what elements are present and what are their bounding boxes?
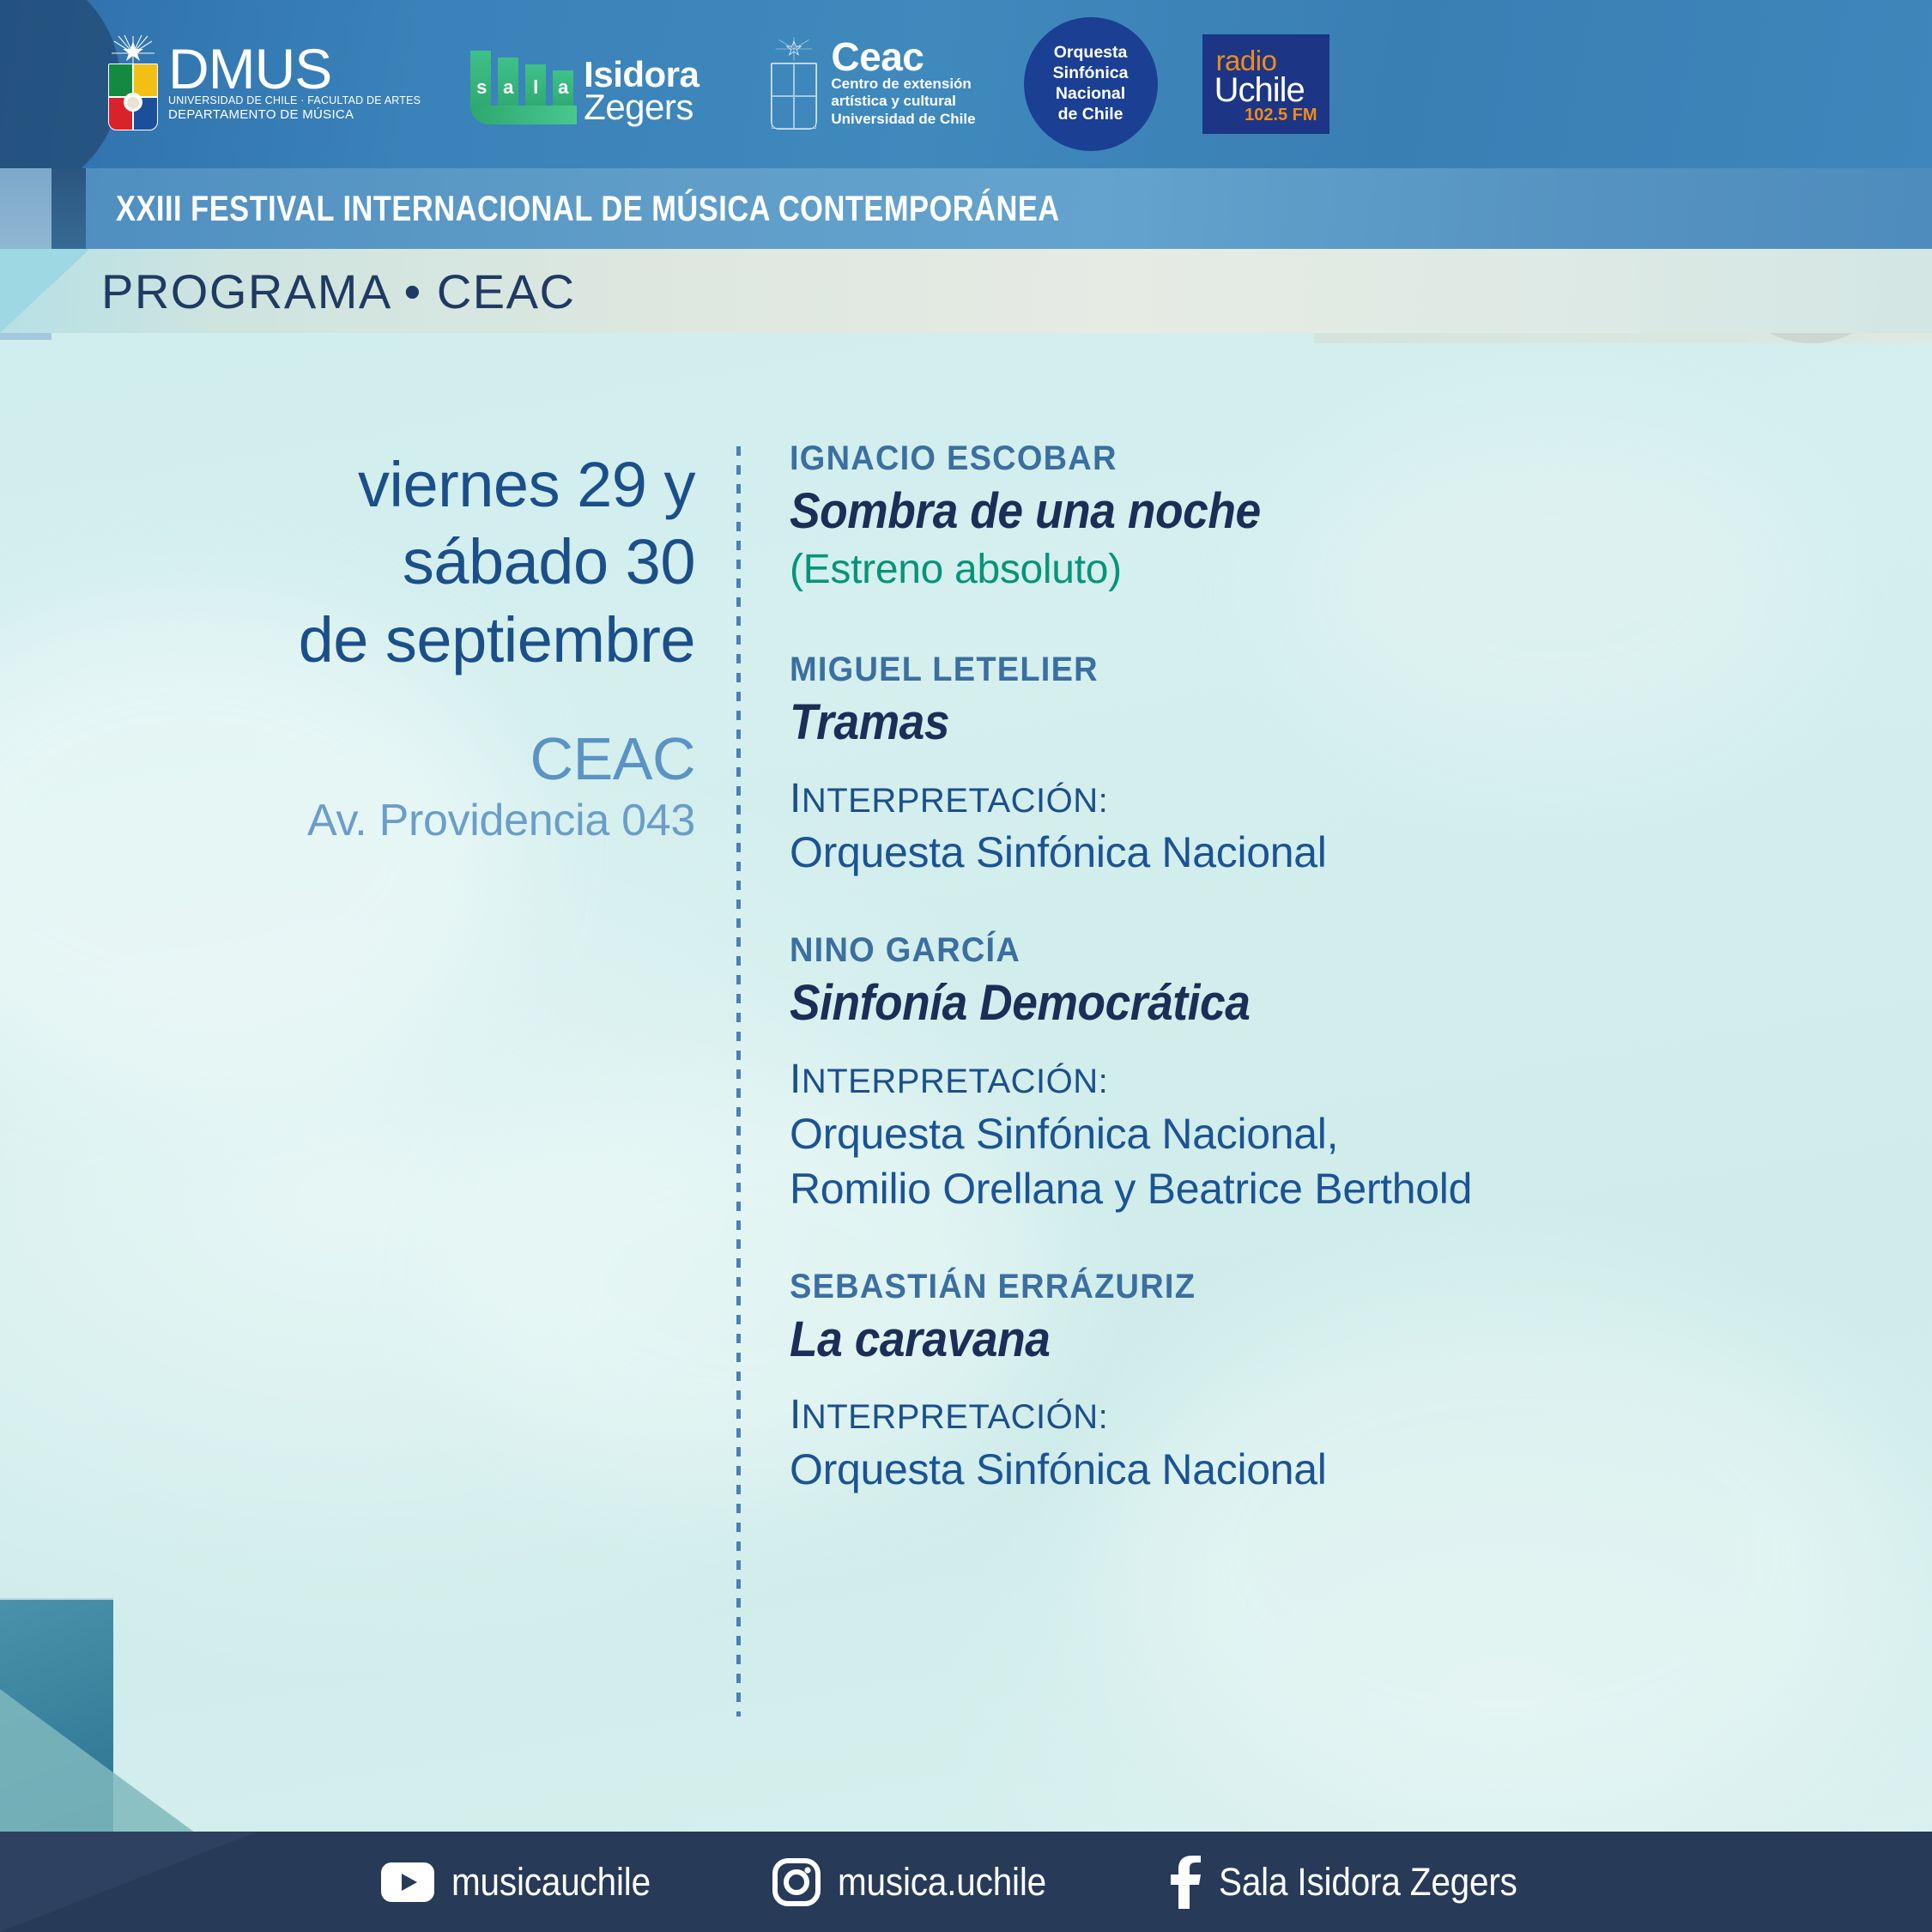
interpretation-label: INTERPRETACIÓN: — [790, 1393, 1871, 1438]
sala-letter: a — [503, 76, 513, 99]
work-title: Sombra de una noche — [790, 481, 1784, 543]
shield-quadrant — [794, 64, 816, 96]
sala-base-swoosh — [470, 106, 577, 124]
social-handle-instagram[interactable]: musica.uchile — [838, 1860, 1046, 1905]
sala-isidora-zegers-logo-icon: s a l a — [470, 44, 577, 124]
social-link-instagram[interactable]: musica.uchile — [772, 1858, 1069, 1906]
event-address: Av. Providencia 043 — [112, 794, 695, 847]
ceac-label: Ceac — [831, 39, 975, 75]
ceac-wordmark: Ceac Centro de extensión artística y cul… — [831, 39, 975, 129]
ceac-shield-icon — [766, 33, 822, 135]
interpretation-label-rest: NTERPRETACIÓN: — [802, 782, 1108, 820]
shield-quadrant — [109, 64, 132, 96]
composer-name: IGNACIO ESCOBAR — [790, 439, 1817, 477]
star-burst-icon — [772, 33, 815, 64]
page-title: PROGRAMA • CEAC — [101, 263, 575, 319]
interpretation-label: INTERPRETACIÓN: — [790, 1057, 1871, 1103]
radio-label-uchile: Uchile — [1214, 75, 1305, 106]
sala-letter: a — [558, 76, 568, 99]
festival-title: XXIII FESTIVAL INTERNACIONAL DE MÚSICA C… — [116, 188, 1060, 229]
program-entry: MIGUEL LETELIER Tramas INTERPRETACIÓN: O… — [790, 651, 1871, 880]
performers: Orquesta Sinfónica Nacional, Romilio Ore… — [790, 1106, 1871, 1216]
sala-letter: l — [533, 76, 538, 99]
social-handle-youtube[interactable]: musicauchile — [451, 1860, 651, 1905]
work-title: Sinfonía Democrática — [790, 972, 1784, 1035]
program-entry: IGNACIO ESCOBAR Sombra de una noche (Est… — [790, 439, 1871, 594]
osn-line-2: Sinfónica — [1053, 64, 1129, 84]
event-venue: CEAC — [112, 724, 695, 795]
sponsor-logos: DMUS UNIVERSIDAD DE CHILE · FACULTAD DE … — [101, 0, 1329, 168]
instagram-icon[interactable] — [772, 1858, 821, 1906]
shield-center-emblem — [124, 93, 142, 112]
radio-uchile-logo-icon: radio Uchile 102.5 FM — [1202, 34, 1329, 134]
osn-line-3: Nacional — [1056, 84, 1125, 105]
poster-canvas: F I M C 23 23 — [0, 0, 1932, 1932]
shield-quadrant — [772, 64, 794, 96]
dmus-label: DMUS — [168, 46, 421, 92]
ceac-sub-line-3: Universidad de Chile — [831, 111, 975, 129]
radio-label-frequency: 102.5 FM — [1245, 107, 1317, 123]
composer-name: MIGUEL LETELIER — [790, 651, 1817, 688]
ceac-shield-quadrants — [771, 63, 817, 130]
ceac-sub-line-2: artística y cultural — [831, 93, 975, 111]
programa-title-band: PROGRAMA • CEAC — [0, 249, 1932, 333]
interpretation-label-initial: I — [790, 1392, 802, 1438]
dmus-wordmark: DMUS UNIVERSIDAD DE CHILE · FACULTAD DE … — [168, 46, 421, 122]
interpretation-label-rest: NTERPRETACIÓN: — [802, 1398, 1108, 1436]
interpretation-label-initial: I — [790, 1057, 802, 1102]
event-date-line-3: de septiembre — [112, 602, 695, 679]
sala-letter: s — [476, 76, 487, 99]
program-list: IGNACIO ESCOBAR Sombra de una noche (Est… — [790, 439, 1871, 1540]
logo-dmus: DMUS UNIVERSIDAD DE CHILE · FACULTAD DE … — [101, 33, 421, 136]
social-footer: musicauchile musica.uchile Sala Isidora … — [0, 1832, 1932, 1932]
sala-name-zegers: Zegers — [584, 91, 699, 124]
orquesta-sinfonica-nacional-circle-icon: Orquesta Sinfónica Nacional de Chile — [1024, 17, 1158, 151]
dmus-sub-line-1: UNIVERSIDAD DE CHILE · FACULTAD DE ARTES — [168, 94, 421, 106]
interpretation-label: INTERPRETACIÓN: — [790, 777, 1871, 822]
program-entry: NINO GARCÍA Sinfonía Democrática INTERPR… — [790, 931, 1871, 1215]
universidad-de-chile-shield-icon — [101, 33, 165, 136]
event-details-column: viernes 29 y sábado 30 de septiembre CEA… — [112, 446, 695, 848]
composer-name: SEBASTIÁN ERRÁZURIZ — [790, 1268, 1817, 1305]
shield-quadrant — [134, 64, 157, 96]
event-date-line-1: viernes 29 y — [112, 446, 695, 524]
work-title: La caravana — [790, 1309, 1784, 1372]
youtube-icon[interactable] — [381, 1862, 434, 1902]
sala-wordmark: Isidora Zegers — [584, 58, 699, 124]
osn-line-1: Orquesta — [1054, 43, 1128, 64]
festival-title-band: XXIII FESTIVAL INTERNACIONAL DE MÚSICA C… — [86, 168, 1932, 249]
sponsor-logo-bar: DMUS UNIVERSIDAD DE CHILE · FACULTAD DE … — [0, 0, 1932, 168]
vertical-dotted-divider — [736, 446, 741, 1717]
composer-name: NINO GARCÍA — [790, 931, 1817, 969]
decorative-footer-diagonal — [0, 1832, 446, 1932]
facebook-icon[interactable] — [1169, 1856, 1202, 1909]
social-link-youtube[interactable]: musicauchile — [381, 1860, 673, 1905]
interpretation-label-rest: NTERPRETACIÓN: — [802, 1063, 1108, 1100]
shield-quadrant — [772, 96, 794, 129]
performers: Orquesta Sinfónica Nacional — [790, 825, 1871, 880]
osn-line-4: de Chile — [1058, 105, 1123, 125]
social-handle-facebook[interactable]: Sala Isidora Zegers — [1219, 1860, 1517, 1905]
social-link-facebook[interactable]: Sala Isidora Zegers — [1169, 1856, 1550, 1909]
shield-quadrant — [794, 96, 816, 129]
performers: Orquesta Sinfónica Nacional — [790, 1442, 1871, 1497]
dmus-sub-line-2: DEPARTAMENTO DE MÚSICA — [168, 107, 421, 122]
program-entry: SEBASTIÁN ERRÁZURIZ La caravana INTERPRE… — [790, 1268, 1871, 1497]
work-title: Tramas — [790, 692, 1784, 754]
event-date-line-2: sábado 30 — [112, 524, 695, 601]
shield-quadrants — [108, 64, 158, 130]
logo-sala-isidora-zegers: s a l a Isidora Zegers — [470, 44, 699, 124]
logo-ceac: Ceac Centro de extensión artística y cul… — [766, 33, 975, 135]
interpretation-label-initial: I — [790, 776, 802, 821]
ceac-sub-line-1: Centro de extensión — [831, 76, 975, 94]
premiere-note: (Estreno absoluto) — [790, 545, 1871, 595]
